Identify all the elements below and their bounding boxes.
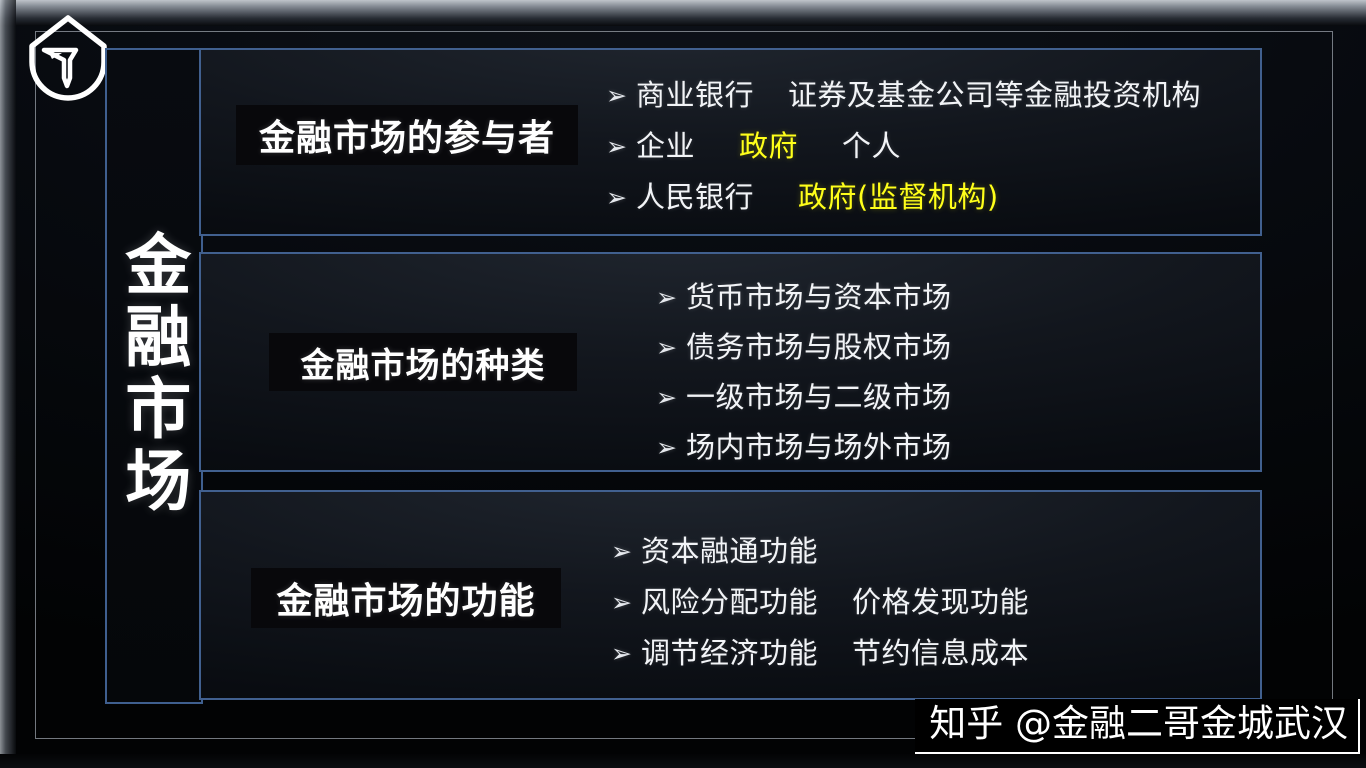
vertical-title-text: 金融市场 (115, 230, 190, 518)
bullet-arrow-icon: ➢ (611, 590, 641, 615)
list-item-text-highlight: 政府 (739, 132, 798, 161)
bullet-list-functions: ➢ 资本融通功能 ➢ 风险分配功能 价格发现功能 ➢ 调节经济功能 节约信息成本 (611, 526, 1029, 679)
section-box-participants: 金融市场的参与者 ➢ 商业银行 证券及基金公司等金融投资机构 ➢ 企业 政府 个… (199, 48, 1262, 236)
house-shield-logo (18, 6, 118, 106)
list-item-text: 个人 (842, 132, 901, 161)
top-edge-sheen (0, 0, 1366, 26)
section-box-functions: 金融市场的功能 ➢ 资本融通功能 ➢ 风险分配功能 价格发现功能 ➢ 调节经济功… (199, 490, 1262, 700)
list-item: ➢ 资本融通功能 (611, 526, 1029, 577)
bottom-edge-sheen (0, 754, 1366, 768)
left-edge-sheen (0, 0, 16, 768)
list-item-text: 企业 (636, 132, 695, 161)
bullet-arrow-icon: ➢ (656, 435, 686, 460)
list-item-text: 一级市场与二级市场 (686, 383, 952, 412)
list-item: ➢ 债务市场与股权市场 (656, 322, 952, 372)
list-item-text: 证券及基金公司等金融投资机构 (788, 81, 1201, 110)
list-item-text-highlight: 政府(监督机构) (798, 183, 999, 212)
list-item-text: 人民银行 (636, 183, 754, 212)
list-item-text: 调节经济功能 (641, 639, 818, 668)
list-item: ➢ 场内市场与场外市场 (656, 422, 952, 472)
list-item-text: 场内市场与场外市场 (686, 433, 952, 462)
bullet-arrow-icon: ➢ (611, 641, 641, 666)
slide-canvas: 金融市场 金融市场的参与者 ➢ 商业银行 证券及基金公司等金融投资机构 ➢ 企业… (0, 0, 1366, 768)
section-label-participants: 金融市场的参与者 (236, 105, 578, 165)
list-item: ➢ 商业银行 证券及基金公司等金融投资机构 (606, 70, 1201, 121)
bullet-arrow-icon: ➢ (606, 185, 636, 210)
bullet-arrow-icon: ➢ (656, 335, 686, 360)
list-item-text: 债务市场与股权市场 (686, 333, 952, 362)
list-item: ➢ 货币市场与资本市场 (656, 272, 952, 322)
section-label-functions: 金融市场的功能 (251, 568, 561, 628)
list-item-text: 风险分配功能 (641, 588, 818, 617)
list-item-text: 资本融通功能 (641, 537, 818, 566)
bullet-list-types: ➢ 货币市场与资本市场 ➢ 债务市场与股权市场 ➢ 一级市场与二级市场 ➢ 场内… (656, 272, 952, 472)
list-item: ➢ 调节经济功能 节约信息成本 (611, 628, 1029, 679)
list-item-text: 价格发现功能 (852, 588, 1029, 617)
watermark: 知乎 @金融二哥金城武汉 (915, 699, 1360, 754)
bullet-arrow-icon: ➢ (656, 285, 686, 310)
bullet-arrow-icon: ➢ (606, 134, 636, 159)
list-item: ➢ 一级市场与二级市场 (656, 372, 952, 422)
list-item-text: 货币市场与资本市场 (686, 283, 952, 312)
list-item-text: 商业银行 (636, 81, 754, 110)
list-item: ➢ 人民银行 政府(监督机构) (606, 172, 1201, 223)
section-box-types: 金融市场的种类 ➢ 货币市场与资本市场 ➢ 债务市场与股权市场 ➢ 一级市场与二… (199, 252, 1262, 472)
list-item: ➢ 企业 政府 个人 (606, 121, 1201, 172)
bullet-arrow-icon: ➢ (606, 83, 636, 108)
vertical-title: 金融市场 (105, 48, 199, 700)
list-item: ➢ 风险分配功能 价格发现功能 (611, 577, 1029, 628)
section-label-types: 金融市场的种类 (269, 333, 577, 391)
list-item-text: 节约信息成本 (852, 639, 1029, 668)
bullet-arrow-icon: ➢ (611, 539, 641, 564)
bullet-arrow-icon: ➢ (656, 385, 686, 410)
bullet-list-participants: ➢ 商业银行 证券及基金公司等金融投资机构 ➢ 企业 政府 个人 ➢ 人民银行 … (606, 70, 1201, 223)
